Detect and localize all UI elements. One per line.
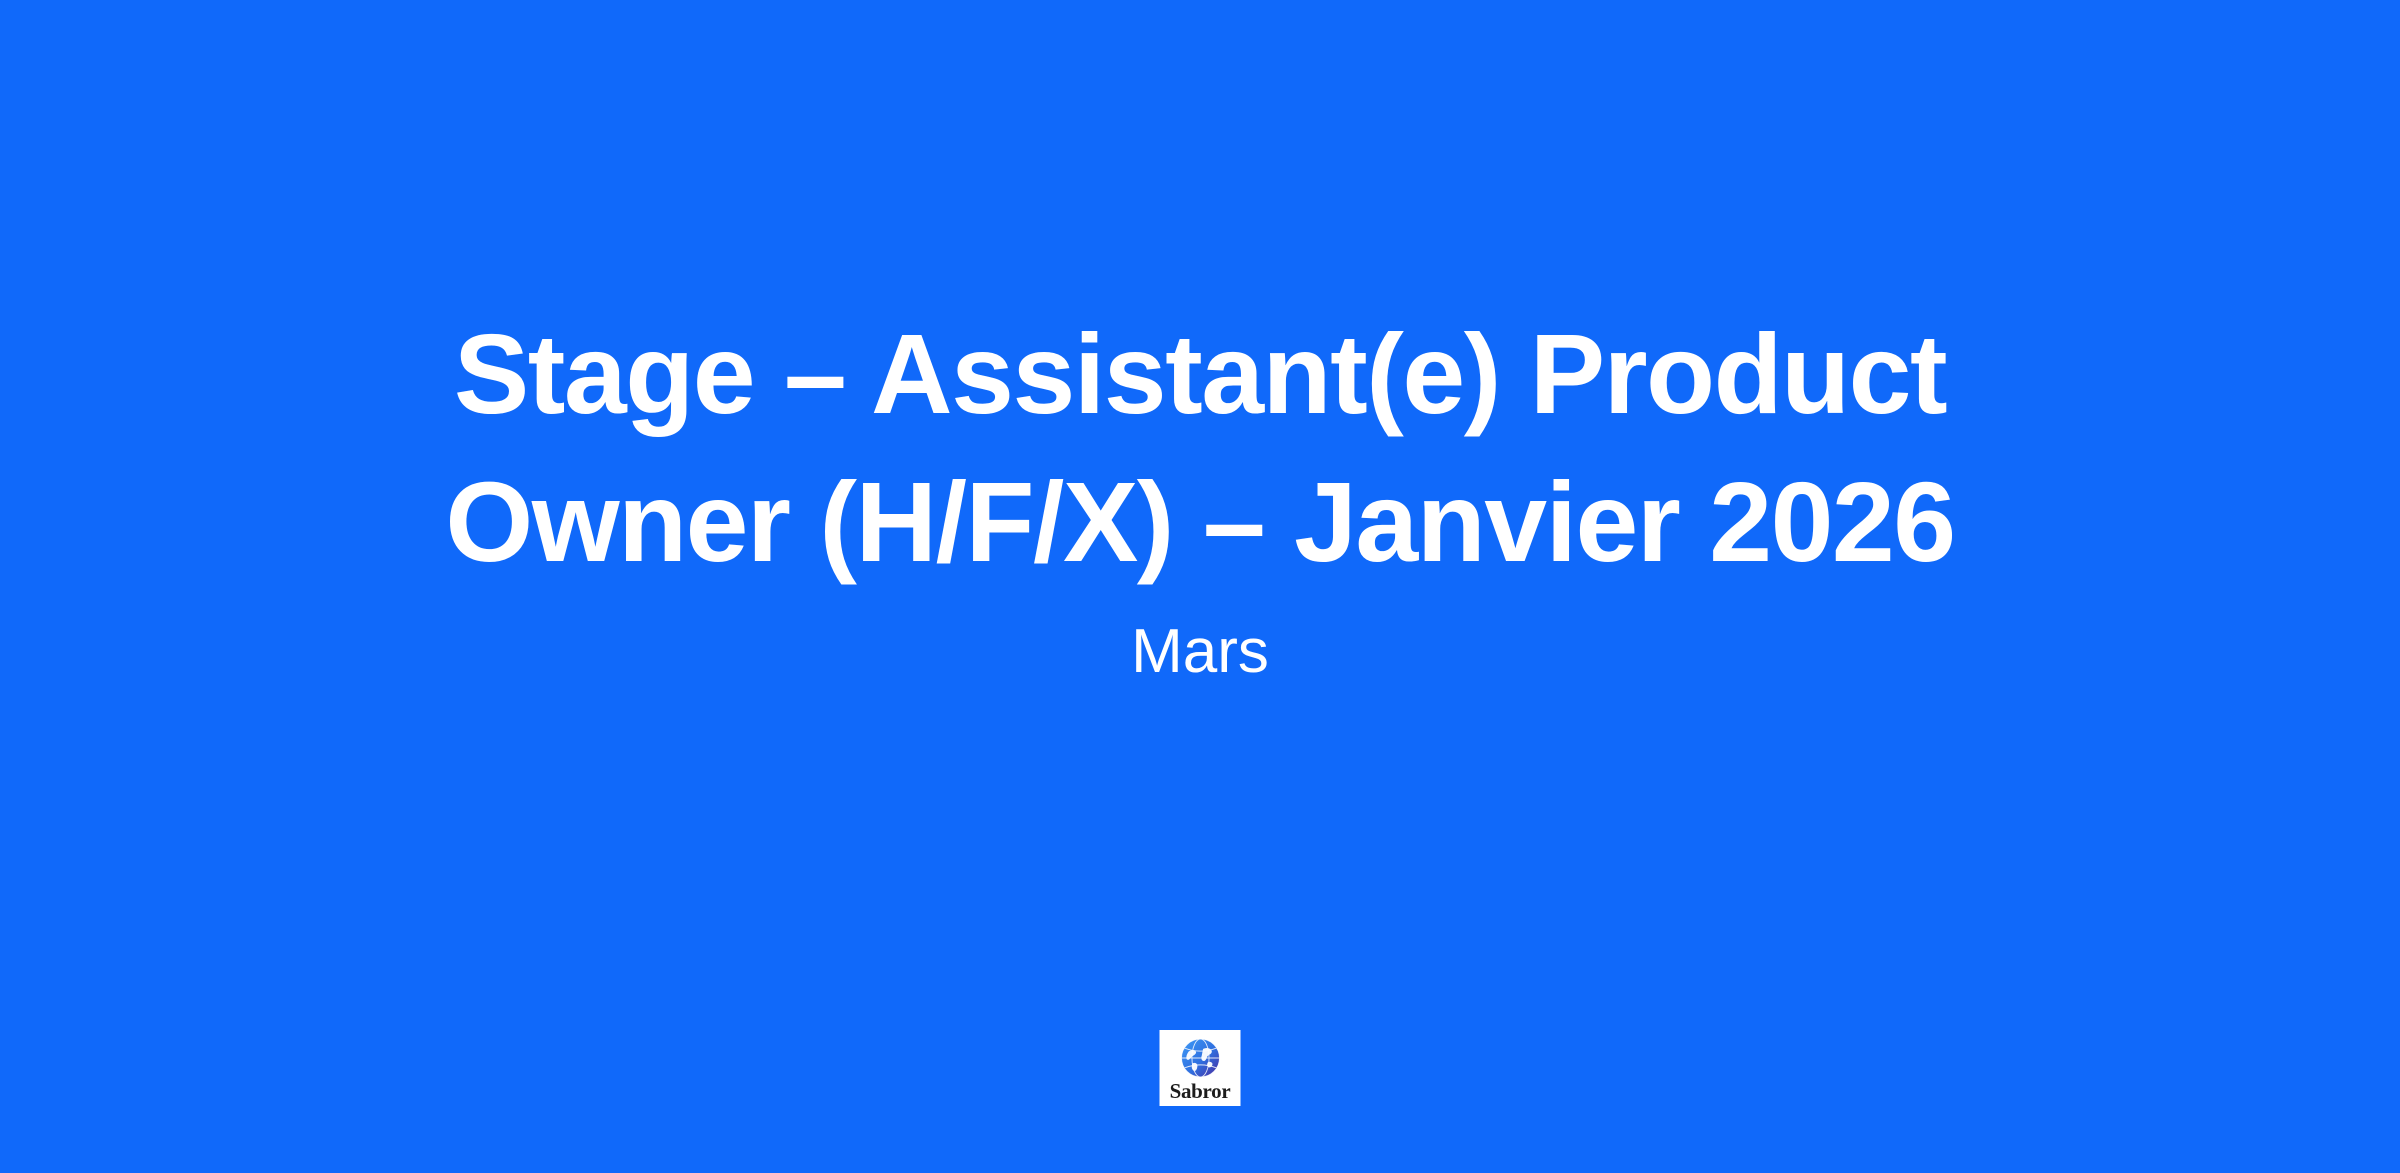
globe-icon xyxy=(1179,1037,1221,1079)
logo-badge: Sabror xyxy=(1160,1030,1241,1106)
slide-canvas: Stage – Assistant(e) Product Owner (H/F/… xyxy=(0,0,2400,1173)
slide-subtitle: Mars xyxy=(180,614,2220,690)
page-title: Stage – Assistant(e) Product Owner (H/F/… xyxy=(370,300,2030,596)
logo-wordmark: Sabror xyxy=(1170,1080,1231,1102)
title-block: Stage – Assistant(e) Product Owner (H/F/… xyxy=(0,300,2400,690)
